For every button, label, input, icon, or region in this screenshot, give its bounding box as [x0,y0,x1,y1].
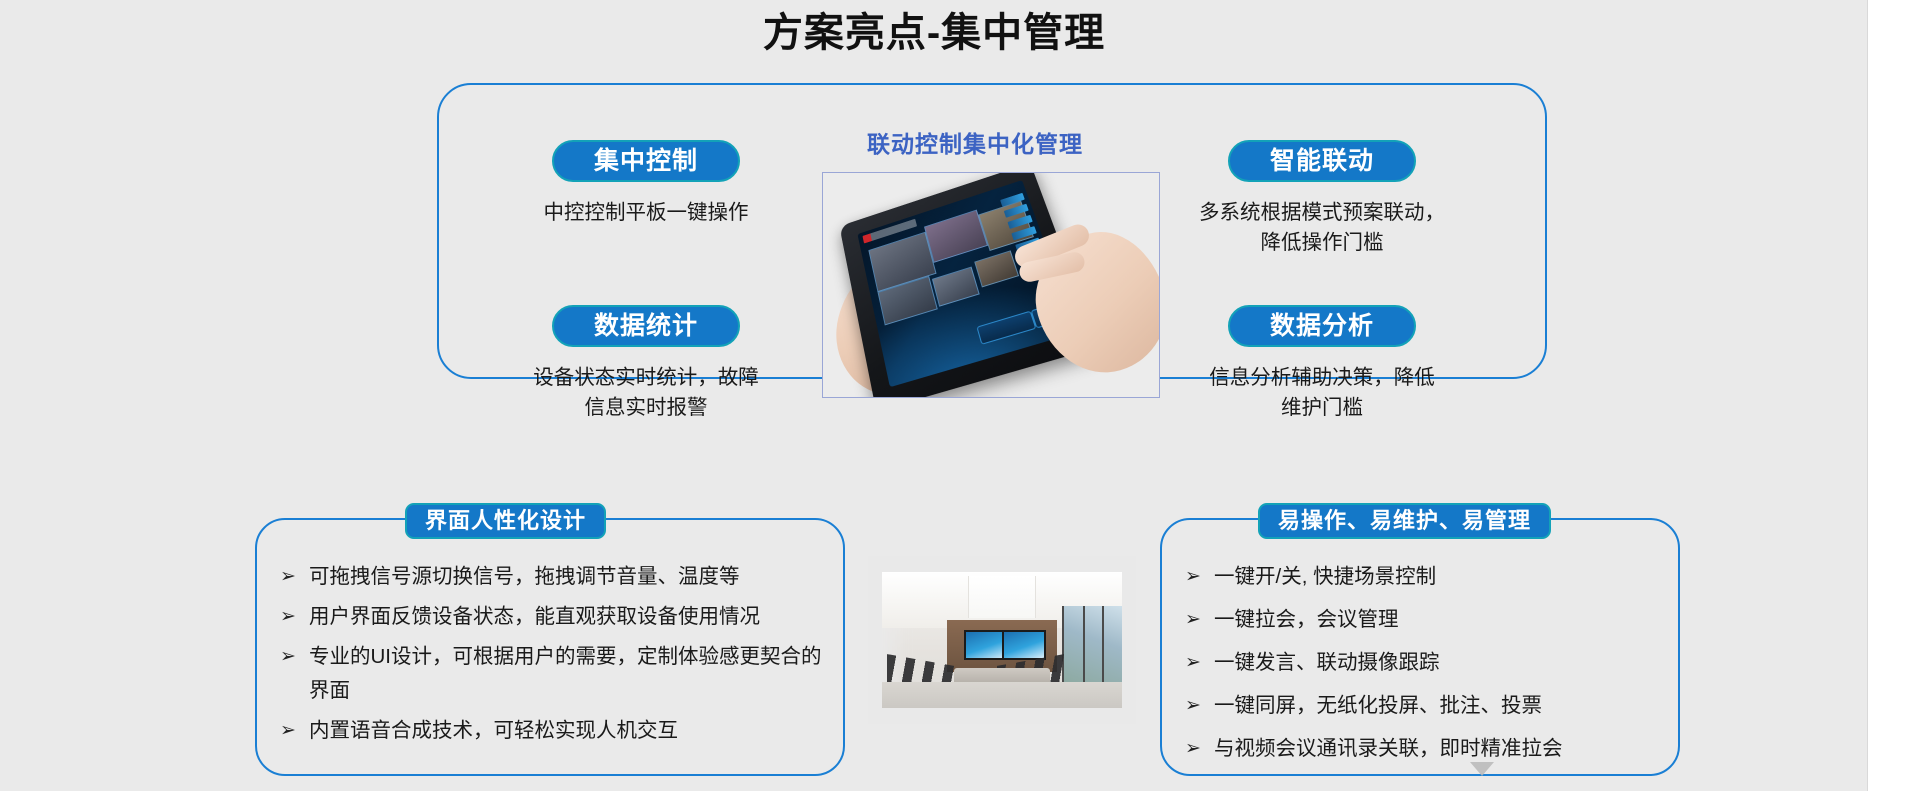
room-display-screen [964,630,1008,660]
room-window-wall [1062,606,1122,692]
caption-data-statistics: 设备状态实时统计，故障 信息实时报警 [476,363,816,423]
room-skylight [968,576,1035,618]
chevron-right-icon: ➢ [1185,646,1201,680]
chevron-right-icon: ➢ [280,560,296,594]
tablet-illustration [823,173,1159,397]
center-heading: 联动控制集中化管理 [800,125,1150,159]
list-item-text: 一键拉会，会议管理 [1214,608,1399,631]
list-item-text: 与视频会议通讯录关联，即时精准拉会 [1214,737,1563,760]
chevron-right-icon: ➢ [280,714,296,748]
list-item-text: 用户界面反馈设备状态，能直观获取设备使用情况 [309,605,760,628]
list-item-text: 一键发言、联动摄像跟踪 [1214,651,1440,674]
page-title: 方案亮点-集中管理 [0,6,1868,60]
conference-room-image [868,556,1136,724]
list-item: ➢ 一键开/关, 快捷场景控制 [1183,560,1673,594]
list-item: ➢ 一键拉会，会议管理 [1183,603,1673,637]
bullet-list-easy-operation: ➢ 一键开/关, 快捷场景控制 ➢ 一键拉会，会议管理 ➢ 一键发言、联动摄像跟… [1183,560,1673,775]
chevron-right-icon: ➢ [1185,560,1201,594]
badge-data-analysis[interactable]: 数据分析 [1228,305,1416,347]
list-item: ➢ 用户界面反馈设备状态，能直观获取设备使用情况 [278,600,830,634]
list-item-text: 内置语音合成技术，可轻松实现人机交互 [309,719,678,742]
list-item-text: 一键同屏，无纸化投屏、批注、投票 [1214,694,1542,717]
bullet-list-ui-design: ➢ 可拖拽信号源切换信号，拖拽调节音量、温度等 ➢ 用户界面反馈设备状态，能直观… [278,560,830,754]
room-floor [882,682,1122,708]
list-item: ➢ 与视频会议通讯录关联，即时精准拉会 [1183,732,1673,766]
chevron-right-icon: ➢ [280,600,296,634]
list-item: ➢ 一键发言、联动摄像跟踪 [1183,646,1673,680]
list-item-text: 可拖拽信号源切换信号，拖拽调节音量、温度等 [309,565,740,588]
chevron-right-icon: ➢ [1185,603,1201,637]
badge-data-statistics[interactable]: 数据统计 [552,305,740,347]
caption-data-analysis: 信息分析辅助决策，降低 维护门槛 [1172,363,1472,423]
section-tag-easy-operation[interactable]: 易操作、易维护、易管理 [1258,503,1551,539]
room-illustration [882,572,1122,708]
badge-intelligent-linkage[interactable]: 智能联动 [1228,140,1416,182]
caption-intelligent-linkage: 多系统根据模式预案联动， 降低操作门槛 [1172,198,1472,258]
list-item-text: 专业的UI设计，可根据用户的需要，定制体验感更契合的界面 [309,645,822,702]
list-item: ➢ 一键同屏，无纸化投屏、批注、投票 [1183,689,1673,723]
chevron-right-icon: ➢ [280,640,296,674]
badge-centralized-control[interactable]: 集中控制 [552,140,740,182]
list-item: ➢ 可拖拽信号源切换信号，拖拽调节音量、温度等 [278,560,830,594]
list-item-text: 一键开/关, 快捷场景控制 [1214,565,1436,588]
slide-canvas: 方案亮点-集中管理 联动控制集中化管理 [0,0,1868,791]
chevron-right-icon: ➢ [1185,689,1201,723]
slide-right-edge [1867,0,1920,791]
chevron-right-icon: ➢ [1185,732,1201,766]
section-tag-ui-design[interactable]: 界面人性化设计 [405,503,606,539]
list-item: ➢ 专业的UI设计，可根据用户的需要，定制体验感更契合的界面 [278,640,830,708]
room-display-screen [1002,630,1046,660]
list-item: ➢ 内置语音合成技术，可轻松实现人机交互 [278,714,830,748]
triangle-marker-icon [1470,762,1494,776]
caption-centralized-control: 中控控制平板一键操作 [496,198,796,228]
tablet-control-image [822,172,1160,398]
